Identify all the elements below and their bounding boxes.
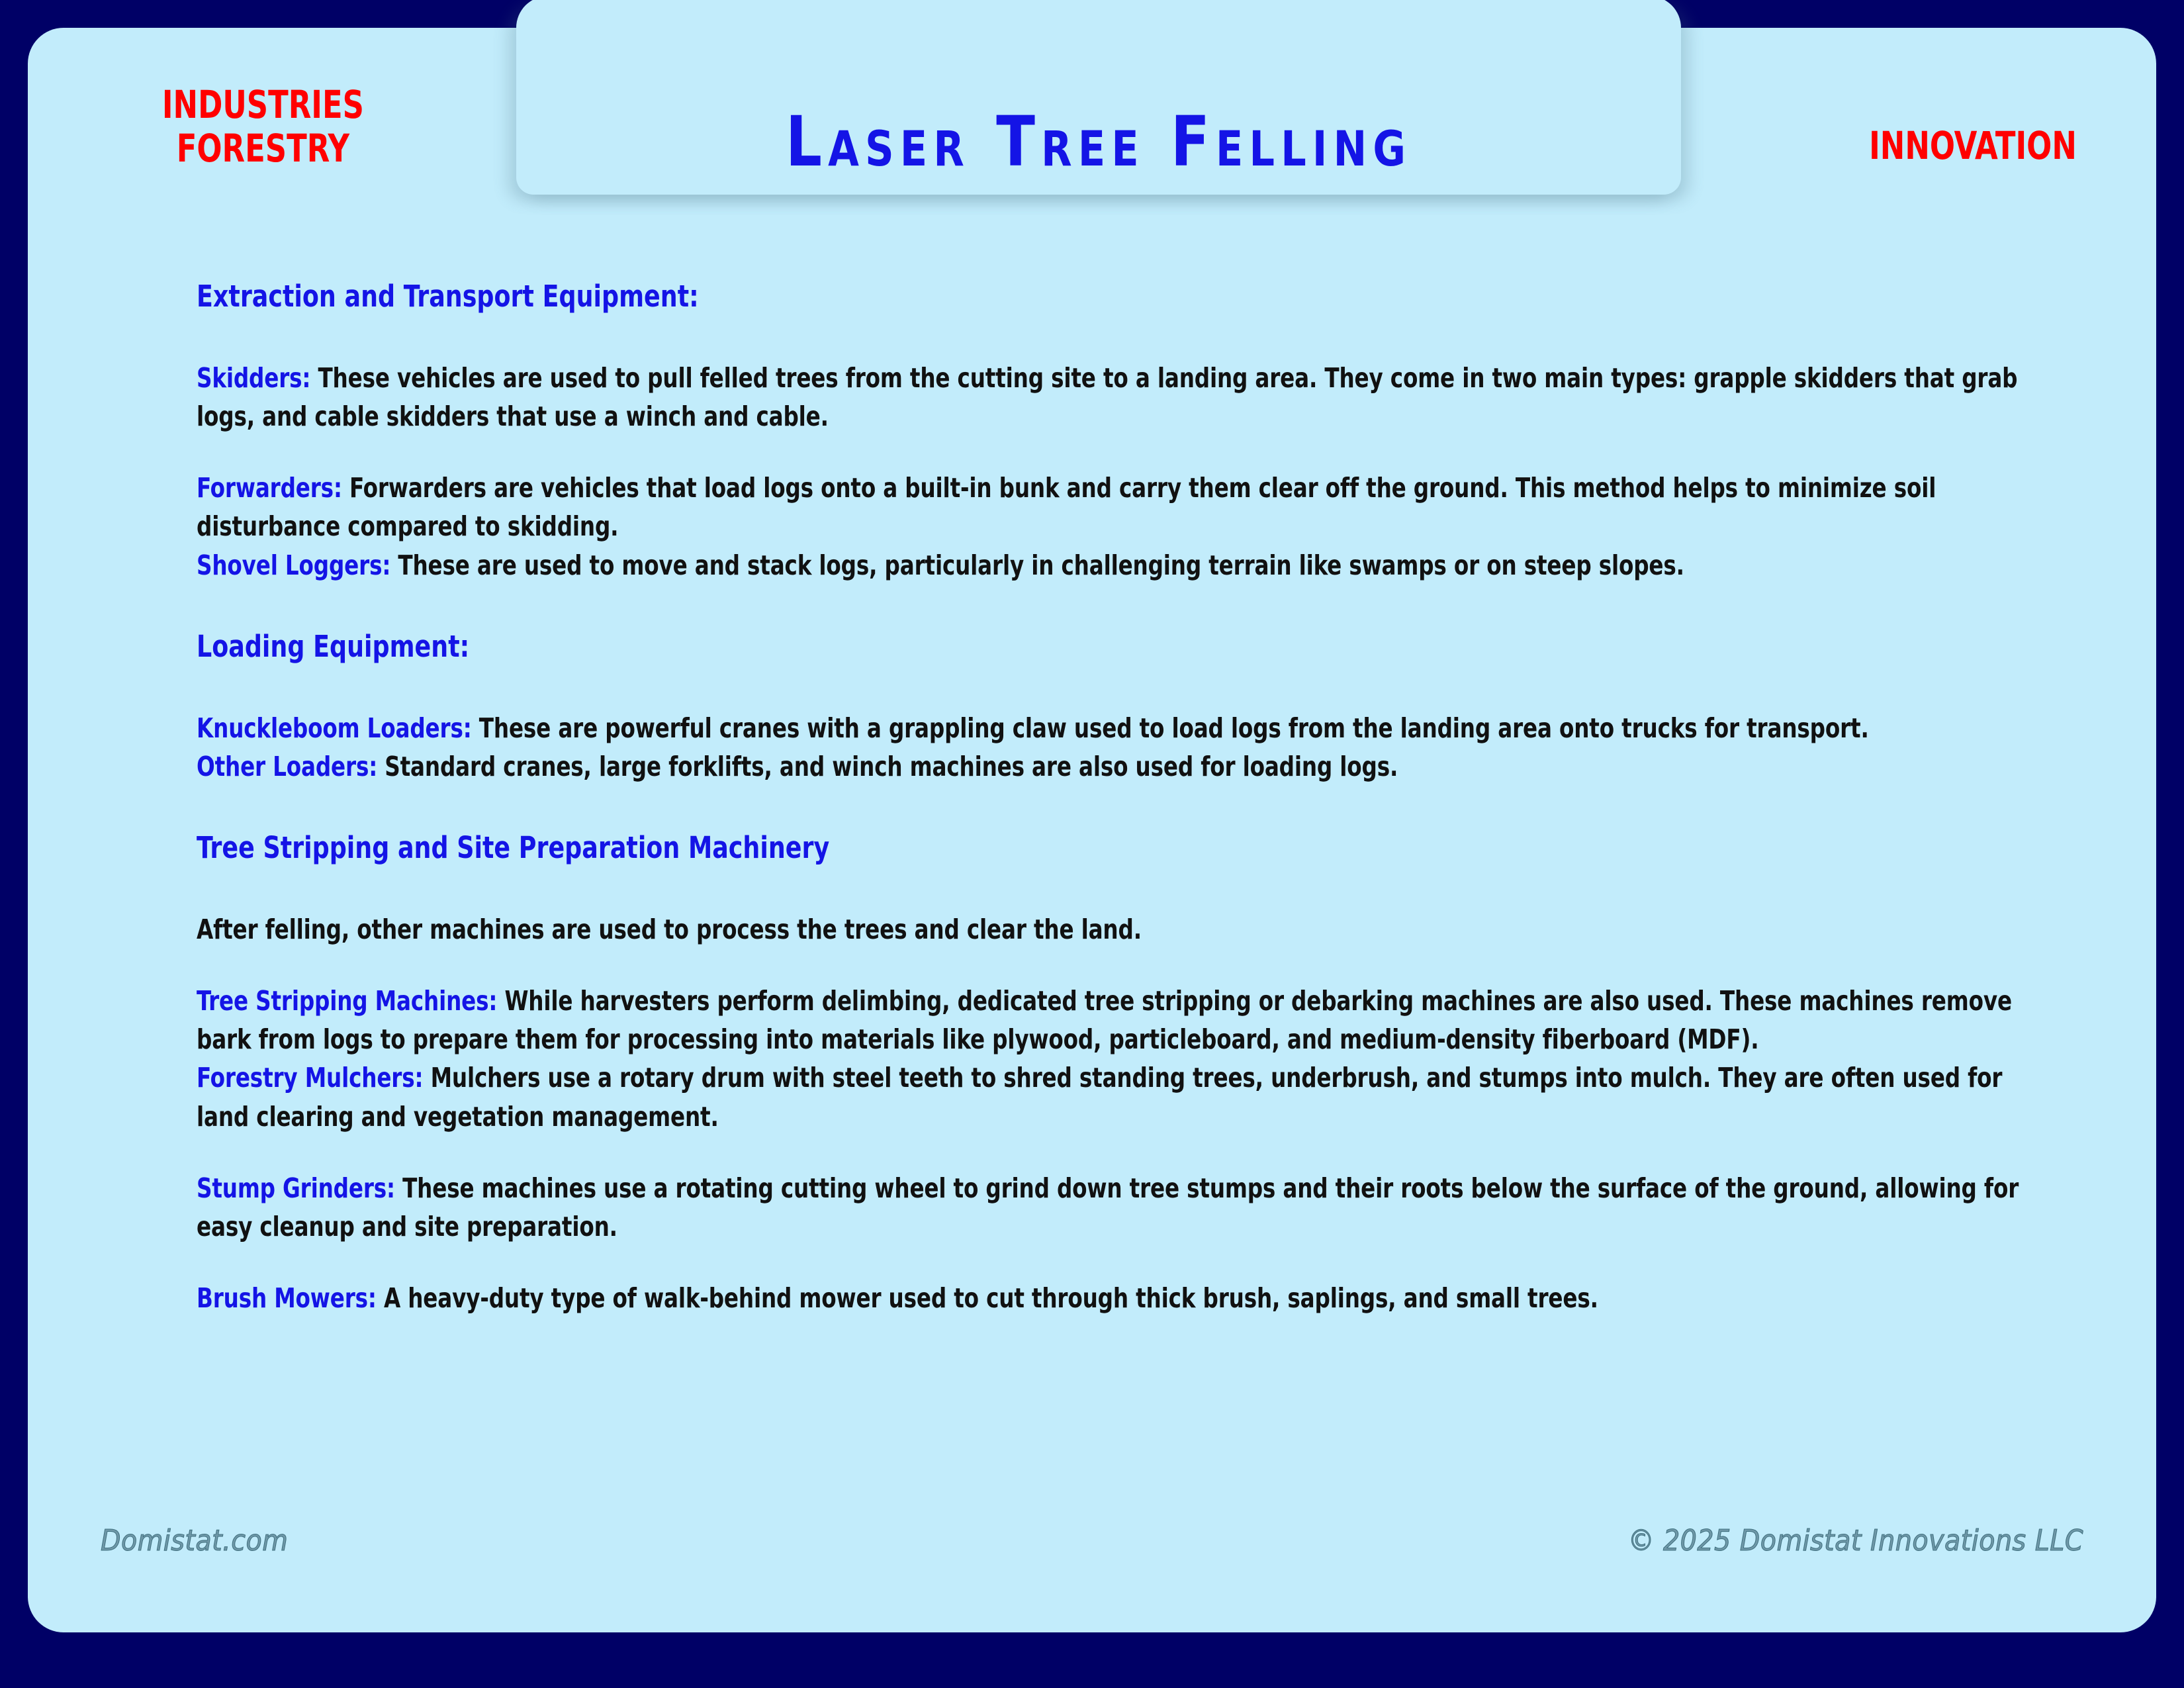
paragraph-lead-brush-mowers: Brush Mowers:: [197, 1282, 377, 1314]
paragraph-shovel-loggers: Shovel Loggers: These are used to move a…: [197, 546, 2059, 585]
paragraph-text-knuckleboom: These are powerful cranes with a grappli…: [472, 712, 1869, 744]
spacer: [197, 436, 2070, 469]
paragraph-text-shovel-loggers: These are used to move and stack logs, p…: [390, 549, 1684, 581]
paragraph-lead-other-loaders: Other Loaders:: [197, 751, 377, 782]
paragraph-lead-forestry-mulchers: Forestry Mulchers:: [197, 1062, 423, 1094]
spacer: [197, 585, 2070, 630]
paragraph-lead-stump-grinders: Stump Grinders:: [197, 1172, 395, 1204]
section-heading-extraction: Extraction and Transport Equipment:: [197, 279, 1882, 314]
spacer: [197, 664, 2070, 709]
paragraph-forwarders: Forwarders: Forwarders are vehicles that…: [197, 469, 2059, 545]
spacer: [197, 314, 2070, 359]
spacer: [197, 1136, 2070, 1169]
section-heading-tree-stripping: Tree Stripping and Site Preparation Mach…: [197, 831, 1882, 865]
paragraph-tree-stripping-machines: Tree Stripping Machines: While harvester…: [197, 982, 2059, 1058]
paragraph-lead-shovel-loggers: Shovel Loggers:: [197, 549, 390, 581]
paragraph-text-stump-grinders: These machines use a rotating cutting wh…: [197, 1172, 2019, 1243]
kicker-line-forestry: FORESTRY: [162, 127, 364, 171]
spacer: [197, 865, 2070, 910]
paragraph-brush-mowers: Brush Mowers: A heavy-duty type of walk-…: [197, 1279, 2059, 1317]
footer-site-name: Domistat.com: [101, 1524, 288, 1558]
spacer: [197, 949, 2070, 982]
paragraph-intro-after-felling: After felling, other machines are used t…: [197, 910, 2059, 949]
paragraph-stump-grinders: Stump Grinders: These machines use a rot…: [197, 1169, 2059, 1246]
paragraph-forestry-mulchers: Forestry Mulchers: Mulchers use a rotary…: [197, 1058, 2059, 1135]
main-content-card: INDUSTRIES FORESTRY INNOVATION Extractio…: [28, 28, 2156, 1632]
footer: Domistat.com © 2025 Domistat Innovations…: [56, 1517, 2128, 1564]
paragraph-knuckleboom-loaders: Knuckleboom Loaders: These are powerful …: [197, 709, 2059, 747]
paragraph-text-skidders: These vehicles are used to pull felled t…: [197, 362, 2017, 432]
footer-copyright: © 2025 Domistat Innovations LLC: [1628, 1524, 2083, 1558]
title-panel: Laser Tree Felling: [516, 0, 1681, 195]
paragraph-skidders: Skidders: These vehicles are used to pul…: [197, 359, 2059, 436]
paragraph-lead-skidders: Skidders:: [197, 362, 310, 394]
paragraph-other-loaders: Other Loaders: Standard cranes, large fo…: [197, 747, 2059, 786]
slide-stage: INDUSTRIES FORESTRY INNOVATION Extractio…: [0, 0, 2184, 1688]
section-heading-loading: Loading Equipment:: [197, 630, 1882, 664]
paragraph-lead-tree-stripping-machines: Tree Stripping Machines:: [197, 985, 497, 1017]
paragraph-text-forwarders: Forwarders are vehicles that load logs o…: [197, 472, 1936, 542]
kicker-innovation: INNOVATION: [1869, 124, 2077, 168]
page-title: Laser Tree Felling: [786, 107, 1412, 195]
paragraph-text-forestry-mulchers: Mulchers use a rotary drum with steel te…: [197, 1062, 2002, 1132]
spacer: [197, 786, 2070, 831]
spacer: [197, 1246, 2070, 1279]
paragraph-text-brush-mowers: A heavy-duty type of walk-behind mower u…: [377, 1282, 1598, 1314]
kicker-line-industries: INDUSTRIES: [162, 83, 364, 127]
content-body: Extraction and Transport Equipment: Skid…: [197, 279, 2070, 1318]
paragraph-text-other-loaders: Standard cranes, large forklifts, and wi…: [377, 751, 1398, 782]
paragraph-lead-forwarders: Forwarders:: [197, 472, 342, 504]
paragraph-lead-knuckleboom: Knuckleboom Loaders:: [197, 712, 472, 744]
kicker-industries-forestry: INDUSTRIES FORESTRY: [162, 83, 364, 170]
